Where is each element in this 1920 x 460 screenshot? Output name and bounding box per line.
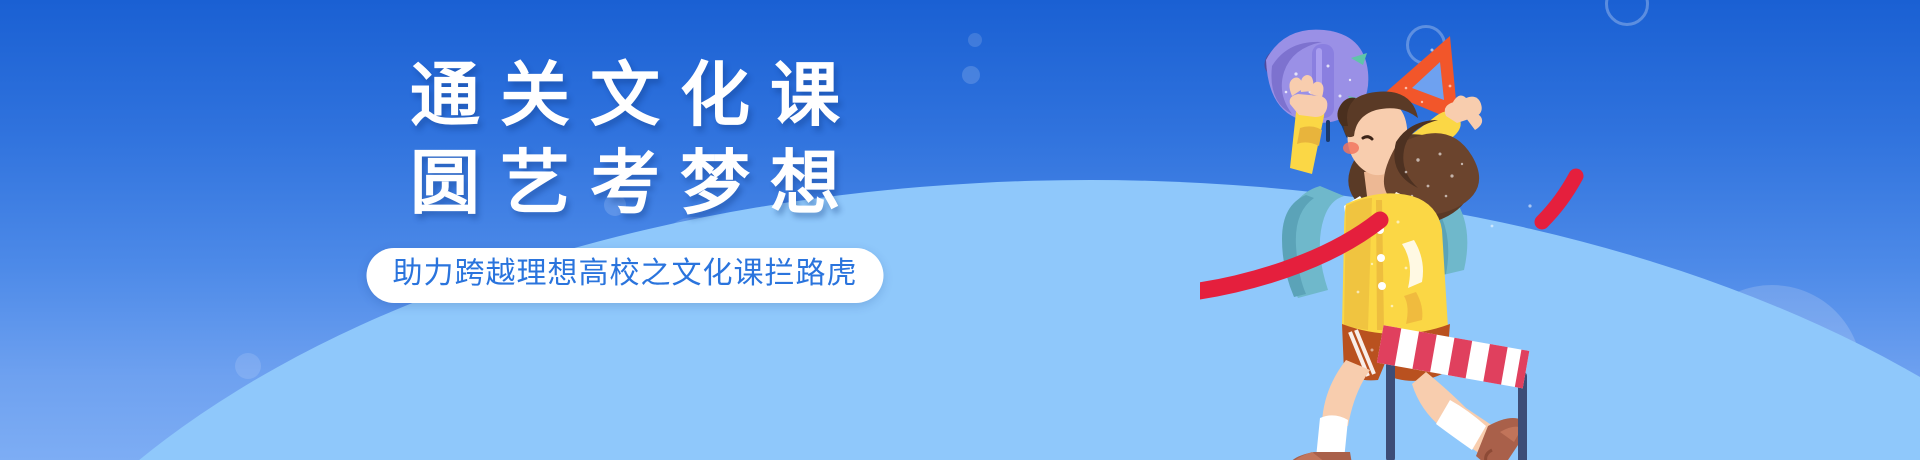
subtitle-text: 助力跨越理想高校之文化课拦路虎 (393, 257, 858, 292)
student-hurdle-runner-illustration (1200, 0, 1660, 460)
copy-block: 通关文化课 圆艺考梦想 助力跨越理想高校之文化课拦路虎 (0, 0, 1250, 460)
promo-banner: 通关文化课 圆艺考梦想 助力跨越理想高校之文化课拦路虎 (0, 0, 1920, 460)
headline-line-1: 通关文化课 (0, 60, 1250, 130)
cheek-blush (1343, 142, 1359, 154)
headline-line-2: 圆艺考梦想 (0, 148, 1250, 218)
subtitle-pill: 助力跨越理想高校之文化课拦路虎 (367, 248, 884, 303)
left-leg (1288, 360, 1370, 460)
